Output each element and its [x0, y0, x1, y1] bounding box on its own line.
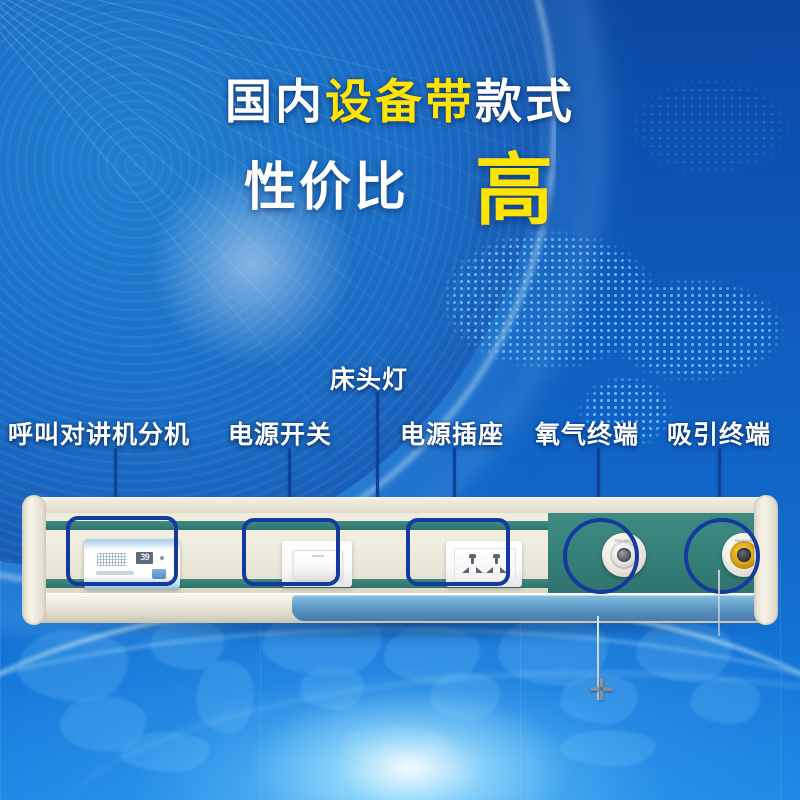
horizon-arc-2 — [0, 628, 800, 800]
highlight-circle-suction — [684, 518, 760, 594]
earth-globe-graphic — [0, 0, 540, 570]
highlight-circle-oxygen — [563, 518, 639, 594]
world-map-landmass — [560, 730, 656, 766]
world-map-landmass — [60, 696, 146, 752]
halftone-world-map-top — [520, 30, 800, 210]
world-map-landmass — [196, 660, 254, 734]
headline-line1-part3: 款式 — [475, 75, 575, 128]
headline-line-2: 性价比高 — [0, 151, 800, 229]
world-map-landmass — [430, 672, 500, 720]
callout-label-power-socket: 电源插座 — [400, 415, 504, 451]
poster-canvas: 国内设备带款式 性价比高 呼叫对讲机分机 电源开关 床头灯 电源插座 氧气终端 … — [0, 0, 800, 800]
headline-line1-part2: 设备带 — [325, 75, 475, 128]
world-map-landmass — [690, 678, 760, 724]
light-ray — [0, 0, 641, 303]
light-ray — [0, 0, 587, 397]
callout-label-intercom: 呼叫对讲机分机 — [8, 415, 190, 451]
callout-label-power-switch: 电源开关 — [228, 415, 332, 451]
headline-line1-part1: 国内 — [225, 75, 325, 128]
highlight-box-power-switch — [242, 518, 340, 586]
highlight-box-power-socket — [406, 518, 510, 586]
callout-label-bed-lamp: 床头灯 — [330, 360, 408, 396]
light-ray — [0, 0, 615, 351]
pull-cord-handle-icon[interactable]: ✛ — [589, 676, 607, 710]
headline-line2-emphasis: 高 — [475, 146, 556, 234]
light-ray — [0, 0, 697, 150]
world-map-landmass — [340, 726, 450, 764]
panel-end-cap-left — [22, 495, 46, 625]
world-map-landmass — [120, 732, 210, 772]
callout-label-suction: 吸引终端 — [667, 415, 771, 451]
rail-slide-cover — [292, 595, 770, 621]
headline-line-1: 国内设备带款式 — [0, 78, 800, 125]
headline-block: 国内设备带款式 性价比高 — [0, 78, 800, 229]
light-ray — [0, 0, 663, 253]
headline-line2-text: 性价比 — [244, 159, 409, 217]
world-map-landmass — [300, 666, 364, 710]
light-ray — [0, 0, 520, 483]
highlight-box-intercom — [66, 516, 178, 586]
light-ray — [0, 0, 555, 441]
suction-hose-cord — [718, 570, 720, 636]
light-ray — [0, 0, 682, 202]
bottom-sun-glow — [250, 690, 570, 800]
horizon-arc-3 — [40, 672, 800, 800]
callout-label-oxygen: 氧气终端 — [535, 415, 639, 451]
